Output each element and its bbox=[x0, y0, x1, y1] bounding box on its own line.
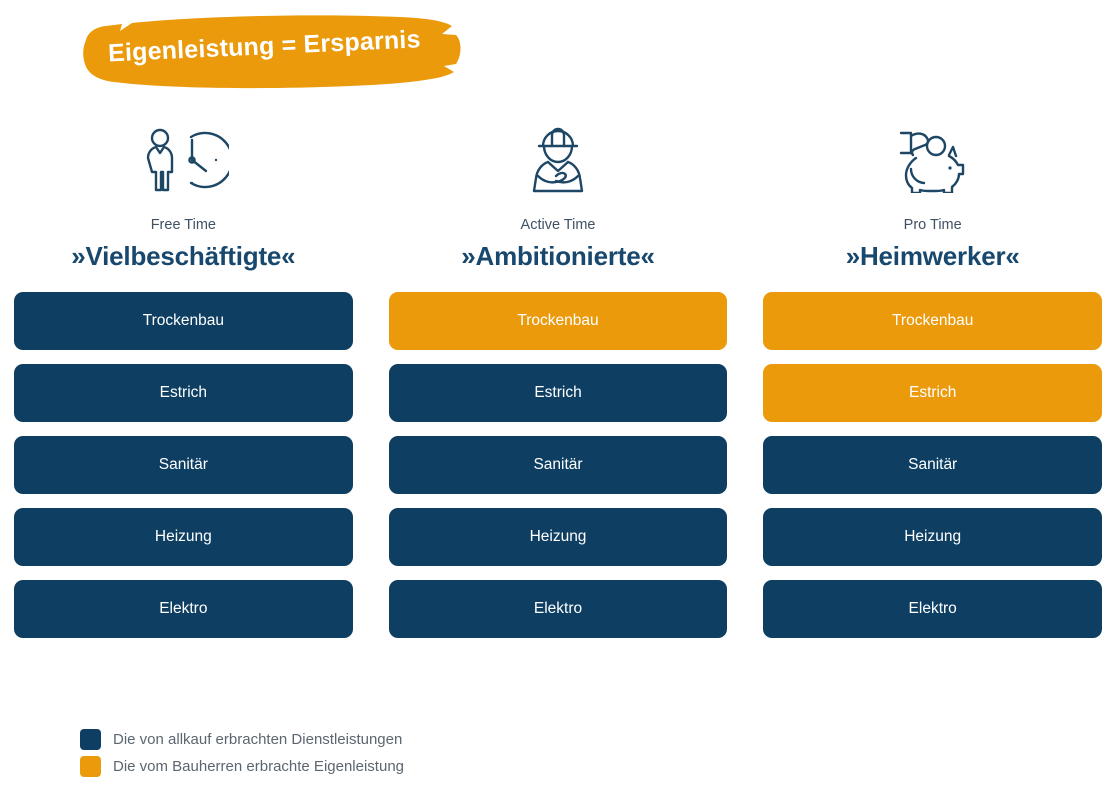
piggy-bank-icon bbox=[763, 122, 1102, 198]
column-title: »Vielbeschäftigte« bbox=[14, 242, 353, 271]
trade-bar-trockenbau[interactable]: Trockenbau bbox=[389, 292, 728, 350]
legend-label: Die vom Bauherren erbrachte Eigenleistun… bbox=[113, 759, 404, 774]
person-clock-icon bbox=[14, 122, 353, 198]
legend-item-allkauf: Die von allkauf erbrachten Dienstleistun… bbox=[80, 729, 404, 750]
trade-bar-elektro[interactable]: Elektro bbox=[14, 580, 353, 638]
trade-bar-list: Trockenbau Estrich Sanitär Heizung Elekt… bbox=[763, 292, 1102, 638]
legend-swatch-navy-icon bbox=[80, 729, 101, 750]
column-eyebrow: Active Time bbox=[389, 218, 728, 233]
trade-bar-list: Trockenbau Estrich Sanitär Heizung Elekt… bbox=[14, 292, 353, 638]
trade-bar-list: Trockenbau Estrich Sanitär Heizung Elekt… bbox=[389, 292, 728, 638]
worker-hardhat-icon bbox=[389, 122, 728, 198]
column-title: »Heimwerker« bbox=[763, 242, 1102, 271]
trade-bar-heizung[interactable]: Heizung bbox=[14, 508, 353, 566]
persona-column-ambitionierte: Active Time »Ambitionierte« Trockenbau E… bbox=[389, 122, 728, 638]
trade-bar-trockenbau[interactable]: Trockenbau bbox=[14, 292, 353, 350]
legend-swatch-orange-icon bbox=[80, 756, 101, 777]
trade-bar-estrich[interactable]: Estrich bbox=[763, 364, 1102, 422]
trade-bar-elektro[interactable]: Elektro bbox=[389, 580, 728, 638]
legend: Die von allkauf erbrachten Dienstleistun… bbox=[80, 729, 404, 777]
headline-banner: Eigenleistung = Ersparnis bbox=[70, 8, 470, 94]
trade-bar-heizung[interactable]: Heizung bbox=[389, 508, 728, 566]
column-eyebrow: Free Time bbox=[14, 218, 353, 233]
persona-columns: Free Time »Vielbeschäftigte« Trockenbau … bbox=[14, 122, 1102, 638]
trade-bar-sanitaer[interactable]: Sanitär bbox=[14, 436, 353, 494]
column-eyebrow: Pro Time bbox=[763, 218, 1102, 233]
legend-label: Die von allkauf erbrachten Dienstleistun… bbox=[113, 732, 402, 747]
legend-item-bauherr: Die vom Bauherren erbrachte Eigenleistun… bbox=[80, 756, 404, 777]
column-title: »Ambitionierte« bbox=[389, 242, 728, 271]
trade-bar-elektro[interactable]: Elektro bbox=[763, 580, 1102, 638]
trade-bar-heizung[interactable]: Heizung bbox=[763, 508, 1102, 566]
persona-column-vielbeschaeftigte: Free Time »Vielbeschäftigte« Trockenbau … bbox=[14, 122, 353, 638]
trade-bar-sanitaer[interactable]: Sanitär bbox=[389, 436, 728, 494]
trade-bar-estrich[interactable]: Estrich bbox=[389, 364, 728, 422]
trade-bar-sanitaer[interactable]: Sanitär bbox=[763, 436, 1102, 494]
persona-column-heimwerker: Pro Time »Heimwerker« Trockenbau Estrich… bbox=[763, 122, 1102, 638]
trade-bar-estrich[interactable]: Estrich bbox=[14, 364, 353, 422]
trade-bar-trockenbau[interactable]: Trockenbau bbox=[763, 292, 1102, 350]
